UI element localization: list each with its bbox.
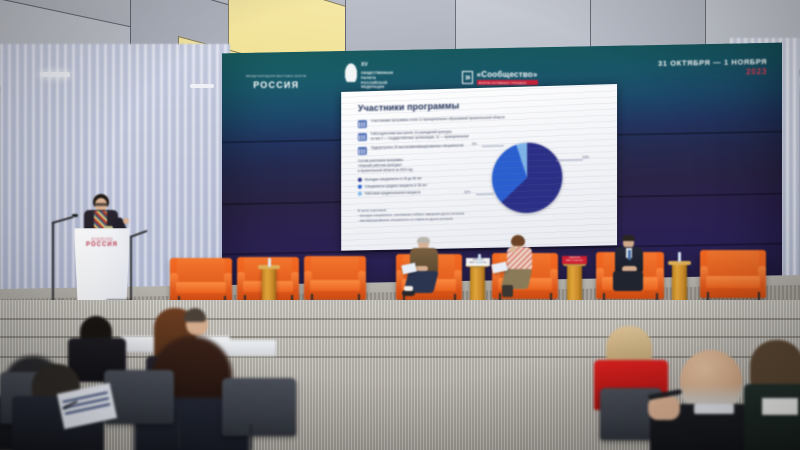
speaker-glasses — [95, 203, 107, 206]
audience-hand — [648, 396, 680, 420]
chart-subtitle: Состав участников программы «Земский раб… — [358, 156, 477, 174]
pie-leader-line — [556, 159, 582, 161]
forum-logo: » «Сообщество» ФОРУМ АКТИВНЫХ ГРАЖДАН — [462, 70, 538, 85]
slide-bullet-rows: Участниками программы стали 11 муниципал… — [358, 112, 608, 159]
legend-label: Специалисты среднего возраста от 35 лет — [365, 183, 427, 188]
conference-photo: VV МЕЖДУНАРОДНАЯ ВЫСТАВКА-ФОРУМ РОССИЯ X… — [0, 0, 800, 450]
podium-logo: МЕЖДУНАРОДНАЯ ВЫСТАВКА-ФОРУМ РОССИЯ — [86, 238, 118, 248]
legend-label: Работники предпенсионного возраста — [365, 191, 421, 196]
audience-hair — [750, 340, 800, 390]
water-bottle — [268, 258, 271, 267]
panelist-boot — [502, 285, 513, 297]
people-icon — [358, 147, 367, 155]
podium-logo-subtitle: МЕЖДУНАРОДНАЯ ВЫСТАВКА-ФОРУМ — [86, 238, 118, 242]
audience-torso — [744, 384, 800, 450]
panelist-sock — [404, 286, 413, 291]
bank-icon — [358, 132, 367, 140]
legend-label: Молодые специалисты от 20 до 35 лет — [365, 176, 422, 181]
step-edge — [0, 318, 800, 320]
legend-item: Молодые специалисты от 20 до 35 лет — [358, 175, 477, 182]
chamber-logo-lines: ОБЩЕСТВЕННАЯ ПАЛАТА РОССИЙСКОЙ ФЕДЕРАЦИИ — [361, 68, 393, 90]
pie-label-mid: 32% — [464, 190, 470, 194]
panelist-hair — [622, 235, 635, 241]
armchair — [700, 250, 766, 298]
panelist-tie — [628, 250, 631, 260]
pie-label-large: 63% — [583, 155, 589, 159]
panelist-hair — [511, 235, 525, 246]
event-date-range: 31 ОКТЯБРЯ — 1 НОЯБРЯ — [658, 57, 767, 68]
pie-leader-line — [476, 194, 494, 195]
pie-leader-line — [482, 145, 504, 147]
venue-logo-title: РОССИЯ — [246, 81, 306, 90]
slide-row: Работодателями выступили 13 учреждений к… — [358, 126, 608, 142]
panelist-hand — [510, 246, 516, 253]
event-date: 31 ОКТЯБРЯ — 1 НОЯБРЯ 2023 — [658, 57, 767, 78]
legend-color-swatch — [358, 178, 362, 182]
chair-leg — [250, 424, 252, 450]
podium: МЕЖДУНАРОДНАЯ ВЫСТАВКА-ФОРУМ РОССИЯ — [74, 228, 130, 310]
audience-chair — [222, 378, 296, 436]
slide-row: Трудоустроено 20 высококвалифицированных… — [358, 140, 608, 155]
microphone-icon — [72, 214, 78, 217]
legend-item: Работники предпенсионного возраста — [358, 189, 477, 196]
forum-logo-bracket-icon: » — [462, 71, 473, 84]
speaker-hand — [123, 218, 129, 224]
podium-logo-title: РОССИЯ — [86, 242, 118, 248]
water-bottle — [478, 254, 481, 264]
public-chamber-logo: XV ОБЩЕСТВЕННАЯ ПАЛАТА РОССИЙСКОЙ ФЕДЕРА… — [344, 62, 393, 90]
forum-logo-subtitle: ФОРУМ АКТИВНЫХ ГРАЖДАН — [477, 80, 538, 85]
audience-name-card — [762, 398, 798, 415]
microphone-stand — [130, 236, 132, 310]
institution-icon — [358, 120, 367, 128]
right-ceiling-light — [190, 84, 214, 88]
chamber-crest-icon — [344, 62, 358, 82]
chair-leg — [178, 404, 180, 448]
slide-title: Участники программы — [358, 101, 459, 114]
presentation-screen: Участники программы Участниками программ… — [341, 84, 617, 251]
pie-chart-circle — [492, 142, 562, 214]
forum-logo-word: «Сообщество» — [477, 70, 538, 79]
pie-label-small: 5% — [472, 142, 477, 146]
panelist-legs — [613, 271, 643, 291]
legend-color-swatch — [358, 192, 362, 196]
water-bottle — [678, 252, 681, 262]
venue-logo: МЕЖДУНАРОДНАЯ ВЫСТАВКА-ФОРУМ РОССИЯ — [246, 76, 306, 90]
audience-collar — [694, 404, 734, 414]
legend-color-swatch — [358, 185, 362, 189]
event-date-year: 2023 — [658, 67, 767, 78]
slide-row-line1: Трудоустроено 20 высококвалифицированных… — [371, 144, 464, 150]
armchair — [304, 256, 366, 300]
pie-chart: 63% 32% 5% — [492, 142, 566, 218]
slide-row-line1: Участниками программы стали 11 муниципал… — [371, 115, 505, 123]
slide-row: Участниками программы стали 11 муниципал… — [358, 112, 608, 127]
name-placard-text: ФАМИЛИЯ ИМЯ ОТЧЕСТВО — [566, 257, 583, 262]
venue-logo-subtitle: МЕЖДУНАРОДНАЯ ВЫСТАВКА-ФОРУМ — [246, 76, 306, 79]
chart-legend-block: Состав участников программы «Земский раб… — [358, 156, 477, 199]
panelist-hair — [417, 237, 430, 243]
left-ceiling-light — [40, 72, 70, 77]
microphone-stand — [52, 222, 54, 310]
legend-item: Специалисты среднего возраста от 35 лет — [358, 182, 477, 189]
name-placard: ФАМИЛИЯ ИМЯ ОТЧЕСТВО — [562, 256, 587, 264]
